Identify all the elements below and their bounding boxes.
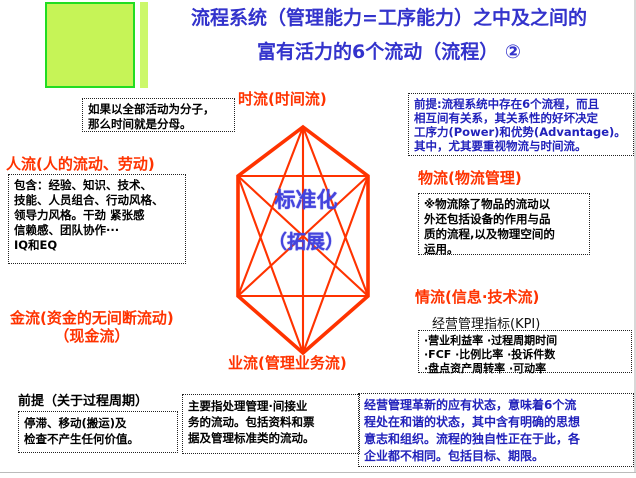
note-goods-line-3: 质的流程,以及物理空间的 <box>424 227 585 242</box>
note-premise-line-2: 相互间有关系，其关系性的好坏决定 <box>414 111 629 125</box>
note-innovation-line-1: 经营管理革新的应有状态，意味着6个流 <box>364 397 629 414</box>
node-label-business-flow: 业流(管理业务流) <box>228 355 347 372</box>
note-time-line-2: 那么时间就是分母。 <box>88 117 230 132</box>
center-sub-text: （拓展） <box>236 230 376 254</box>
green-decoration-box <box>45 2 135 88</box>
note-premise-line-3: 工序力(Power)和优势(Advantage)。 <box>414 125 629 139</box>
node-label-information-flow: 情流(信息·技术流) <box>415 289 539 306</box>
note-stagnation-line-2: 检查不产生任何价值。 <box>24 431 173 447</box>
bottom-divider <box>0 472 636 473</box>
note-time-flow: 如果以全部活动为分子， 那么时间就是分母。 <box>82 98 235 132</box>
note-premise: 前提:流程系统中存在6个流程，而且 相互间有关系，其关系性的好坏决定 工序力(P… <box>408 93 634 156</box>
note-premise-line-4: 其中，尤其要重视物流与时间流。 <box>414 139 629 153</box>
note-goods-flow: ※物流除了物品的流动以 外还包括设备的作用与品 质的流程,以及物理空间的 运用。 <box>418 193 590 255</box>
note-goods-line-4: 运用。 <box>424 242 585 257</box>
note-stagnation: 停滞、移动(搬运)及 检查不产生任何价值。 <box>18 411 178 453</box>
note-innovation-line-4: 企业都不相同。包括目标、期限。 <box>364 448 629 465</box>
node-label-time-flow: 时流(时间流) <box>238 91 327 108</box>
title-line-2: 富有活力的6个流动（流程） ② <box>148 38 630 66</box>
node-label-people-flow: 人流(人的流动、劳动) <box>6 156 155 173</box>
note-goods-line-2: 外还包括设备的作用与品 <box>424 212 585 227</box>
note-stagnation-line-1: 停滞、移动(搬运)及 <box>24 415 173 431</box>
note-goods-line-1: ※物流除了物品的流动以 <box>424 197 585 212</box>
hexagon-center-label: 标准化 （拓展） <box>236 188 376 254</box>
green-decoration-strip <box>140 2 148 88</box>
money-flow-line-1: 金流(资金的无间断流动) <box>10 309 174 327</box>
note-business-line-3: 据及管理标准类的流动。 <box>188 430 355 446</box>
money-flow-line-2: （现金流） <box>10 328 174 345</box>
note-kpi-line-3: ·盘点资产周转率 ·可动率 <box>424 362 627 376</box>
page-title: 流程系统（管理能力=工序能力）之中及之间的 富有活力的6个流动（流程） ② <box>148 4 630 66</box>
note-business-flow: 主要指处理管理·间接业 务的流动。包括资料和票 据及管理标准类的流动。 <box>182 394 360 454</box>
slide-canvas: 流程系统（管理能力=工序能力）之中及之间的 富有活力的6个流动（流程） ② <box>0 0 636 478</box>
note-kpi-line-2: ·FCF ·比例比率 ·投诉件数 <box>424 348 627 362</box>
note-people-line-4: 信赖感、团队协作··· <box>14 223 181 238</box>
note-kpi-line-1: ·营业利益率 ·过程周期时间 <box>424 334 627 348</box>
node-label-money-flow: 金流(资金的无间断流动) （现金流） <box>10 310 174 345</box>
note-innovation-line-3: 意志和组织。流程的独自性正在于此，各 <box>364 431 629 448</box>
note-innovation-line-2: 程处在和谐的状态，其中含有明确的思想 <box>364 414 629 431</box>
note-business-line-1: 主要指处理管理·间接业 <box>188 398 355 414</box>
note-people-line-3: 领导力风格。干劲 紧张感 <box>14 208 181 223</box>
note-business-line-2: 务的流动。包括资料和票 <box>188 414 355 430</box>
note-people-line-2: 技能、人员组合、行动风格、 <box>14 193 181 208</box>
process-cycle-premise-caption: 前提（关于过程周期） <box>18 390 148 409</box>
note-kpi-metrics: ·营业利益率 ·过程周期时间 ·FCF ·比例比率 ·投诉件数 ·盘点资产周转率… <box>418 330 632 373</box>
note-premise-line-1: 前提:流程系统中存在6个流程，而且 <box>414 97 629 111</box>
node-label-goods-flow: 物流(物流管理) <box>418 170 522 187</box>
note-people-line-5: IQ和EQ <box>14 238 181 253</box>
note-management-innovation: 经营管理革新的应有状态，意味着6个流 程处在和谐的状态，其中含有明确的思想 意志… <box>358 393 634 467</box>
note-people-flow: 包含：经验、知识、技术、 技能、人员组合、行动风格、 领导力风格。干劲 紧张感 … <box>8 174 186 264</box>
note-people-line-1: 包含：经验、知识、技术、 <box>14 178 181 193</box>
note-time-line-1: 如果以全部活动为分子， <box>88 102 230 117</box>
center-main-text: 标准化 <box>275 188 338 212</box>
title-line-1: 流程系统（管理能力=工序能力）之中及之间的 <box>191 7 587 29</box>
